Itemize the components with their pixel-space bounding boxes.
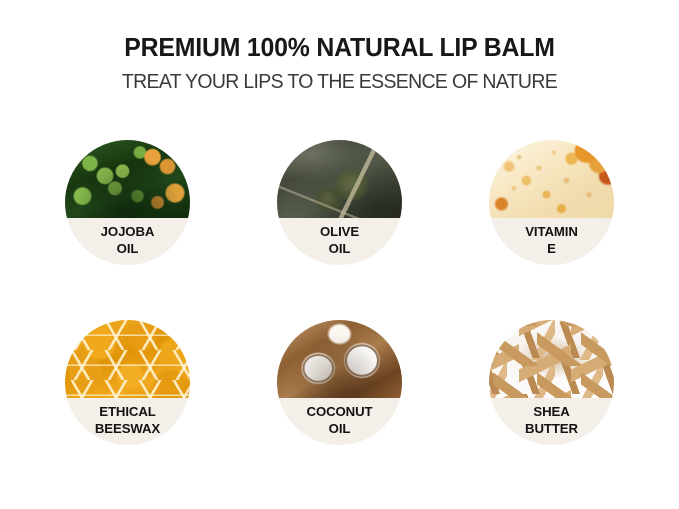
ingredient-label-line1: VITAMIN <box>525 223 578 240</box>
coconut-art <box>277 320 402 398</box>
header: PREMIUM 100% NATURAL LIP BALM TREAT YOUR… <box>0 0 679 93</box>
jojoba-berries-photo <box>65 140 190 218</box>
coconut-halves-photo <box>277 320 402 398</box>
shea-butter-chunks-photo <box>489 320 614 398</box>
ingredient-label: ETHICAL BEESWAX <box>65 398 190 445</box>
infographic-page: PREMIUM 100% NATURAL LIP BALM TREAT YOUR… <box>0 0 679 509</box>
shea-butter-art <box>489 320 614 398</box>
ingredient-circle: JOJOBA OIL <box>65 140 190 265</box>
ingredient-label: OLIVE OIL <box>277 218 402 265</box>
honeycomb-photo <box>65 320 190 398</box>
ingredient-label: SHEA BUTTER <box>489 398 614 445</box>
vitamin-e-oil-photo <box>489 140 614 218</box>
ingredient-label-line1: COCONUT <box>307 403 373 420</box>
ingredient-label-line2: BEESWAX <box>95 420 160 437</box>
ingredient-label: VITAMIN E <box>489 218 614 265</box>
ingredient-card-vitamin-e: VITAMIN E <box>489 140 614 265</box>
ingredient-label-line2: BUTTER <box>525 420 578 437</box>
ingredient-label-line1: SHEA <box>533 403 569 420</box>
ingredient-circle: VITAMIN E <box>489 140 614 265</box>
ingredient-card-olive-oil: OLIVE OIL <box>277 140 402 265</box>
ingredient-label-line2: OIL <box>329 420 351 437</box>
ingredient-circle: COCONUT OIL <box>277 320 402 445</box>
ingredient-label-line1: OLIVE <box>320 223 359 240</box>
ingredient-label-line2: OIL <box>117 240 139 257</box>
ingredient-circle: ETHICAL BEESWAX <box>65 320 190 445</box>
page-subtitle: TREAT YOUR LIPS TO THE ESSENCE OF NATURE <box>17 71 662 94</box>
ingredient-grid: JOJOBA OIL OLIVE OIL <box>0 140 679 500</box>
ingredient-circle: OLIVE OIL <box>277 140 402 265</box>
ingredient-card-shea-butter: SHEA BUTTER <box>489 320 614 445</box>
ingredient-label-line1: JOJOBA <box>101 223 155 240</box>
ingredient-label-line2: E <box>547 240 556 257</box>
ingredient-card-jojoba-oil: JOJOBA OIL <box>65 140 190 265</box>
ingredient-card-ethical-beeswax: ETHICAL BEESWAX <box>65 320 190 445</box>
olive-branch-photo <box>277 140 402 218</box>
ingredient-label: COCONUT OIL <box>277 398 402 445</box>
page-title: PREMIUM 100% NATURAL LIP BALM <box>15 34 663 62</box>
ingredient-row-top: JOJOBA OIL OLIVE OIL <box>0 140 679 265</box>
ingredient-label-line2: OIL <box>329 240 351 257</box>
olive-art <box>277 140 402 218</box>
ingredient-circle: SHEA BUTTER <box>489 320 614 445</box>
jojoba-art <box>65 140 190 218</box>
ingredient-row-bottom: ETHICAL BEESWAX COCONUT OIL <box>0 320 679 445</box>
vitamin-e-art <box>489 140 614 218</box>
ingredient-label-line1: ETHICAL <box>99 403 155 420</box>
beeswax-art <box>65 320 190 398</box>
ingredient-card-coconut-oil: COCONUT OIL <box>277 320 402 445</box>
ingredient-label: JOJOBA OIL <box>65 218 190 265</box>
